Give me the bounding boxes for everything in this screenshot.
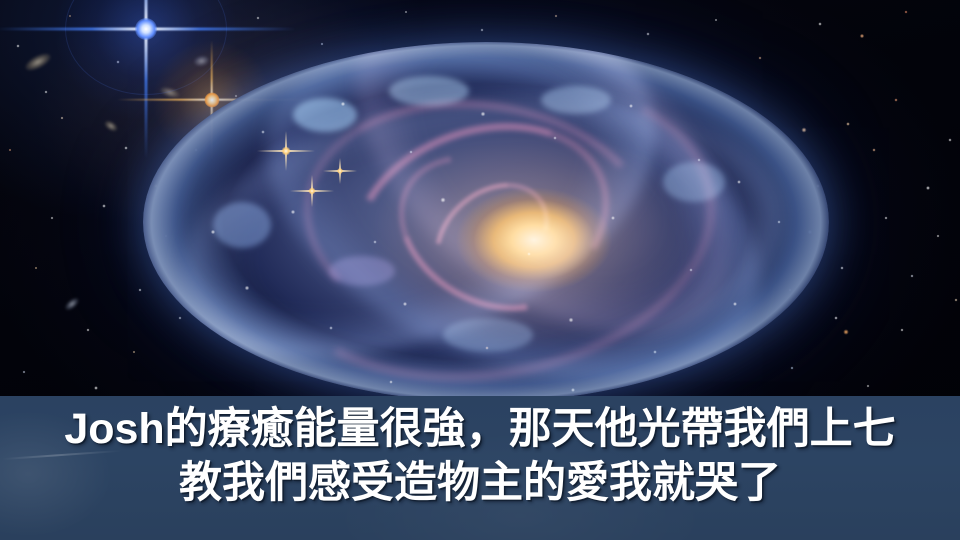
gold-sparkle-3 [339,170,340,171]
subtitle-line-1: Josh的療癒能量很強，那天他光帶我們上七 [0,408,960,451]
gold-sparkle-2 [311,190,312,191]
subtitle-bar: Josh的療癒能量很強，那天他光帶我們上七 教我們感受造物主的愛我就哭了 [0,396,960,540]
subtitle-line-2: 教我們感受造物主的愛我就哭了 [0,462,960,505]
bright-blue-star-icon [145,28,146,29]
spiral-galaxy [143,42,829,402]
screenshot-frame: Josh的療癒能量很強，那天他光帶我們上七 教我們感受造物主的愛我就哭了 [0,0,960,540]
gold-sparkle-1 [285,150,286,151]
galaxy-star-speckles [143,42,829,402]
